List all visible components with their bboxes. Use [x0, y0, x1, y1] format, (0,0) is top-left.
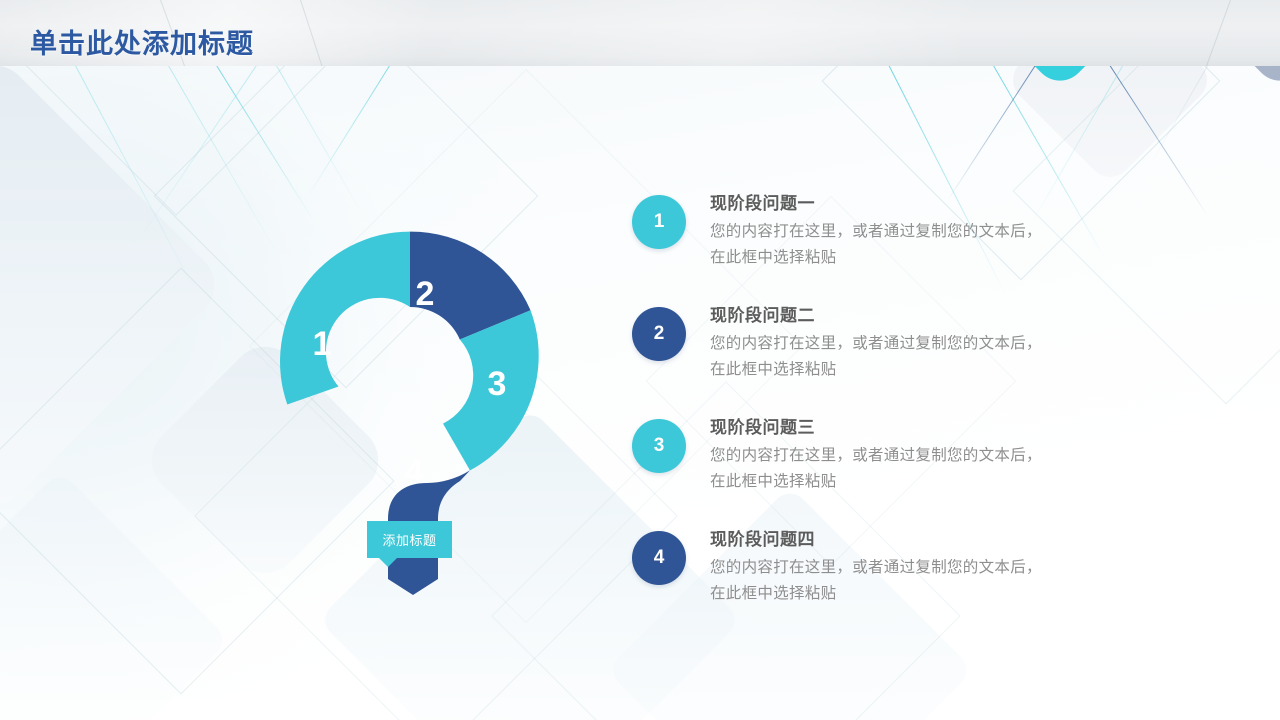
chart-callout-label[interactable]: 添加标题: [367, 521, 452, 558]
list-item[interactable]: 4 现阶段问题四 您的内容打在这里，或者通过复制您的文本后，在此框中选择粘贴: [632, 529, 1062, 625]
donut-segment-1[interactable]: [280, 232, 410, 405]
list-item-body: 您的内容打在这里，或者通过复制您的文本后，在此框中选择粘贴: [710, 443, 1055, 494]
segment-label-2: 2: [416, 275, 435, 313]
list-item-title: 现阶段问题三: [710, 417, 1062, 438]
list-item-body: 您的内容打在这里，或者通过复制您的文本后，在此框中选择粘贴: [710, 555, 1055, 606]
list-item-badge: 1: [632, 195, 686, 249]
page-title: 单击此处添加标题: [30, 22, 254, 61]
list-item-body: 您的内容打在这里，或者通过复制您的文本后，在此框中选择粘贴: [710, 219, 1055, 270]
list-item-title: 现阶段问题四: [710, 529, 1062, 550]
list-item-badge: 4: [632, 531, 686, 585]
list-item-badge: 2: [632, 307, 686, 361]
decorative-rounded-square-left: [0, 52, 228, 519]
list-item[interactable]: 1 现阶段问题一 您的内容打在这里，或者通过复制您的文本后，在此框中选择粘贴: [632, 193, 1062, 289]
decorative-wedge-left: [0, 470, 230, 720]
segment-label-4: 4: [405, 453, 424, 491]
slide-canvas: 单击此处添加标题 1 2 3 4 添加标题 1 现阶段问题一 您的内容打: [0, 0, 1280, 720]
list-item-body: 您的内容打在这里，或者通过复制您的文本后，在此框中选择粘贴: [710, 331, 1055, 382]
list-item-title: 现阶段问题二: [710, 305, 1062, 326]
list-item[interactable]: 2 现阶段问题二 您的内容打在这里，或者通过复制您的文本后，在此框中选择粘贴: [632, 305, 1062, 401]
segment-label-1: 1: [313, 325, 332, 363]
list-item[interactable]: 3 现阶段问题三 您的内容打在这里，或者通过复制您的文本后，在此框中选择粘贴: [632, 417, 1062, 513]
segment-label-3: 3: [488, 365, 507, 403]
list-item-badge: 3: [632, 419, 686, 473]
list-item-title: 现阶段问题一: [710, 193, 1062, 214]
problem-list: 1 现阶段问题一 您的内容打在这里，或者通过复制您的文本后，在此框中选择粘贴 2…: [632, 193, 1062, 625]
